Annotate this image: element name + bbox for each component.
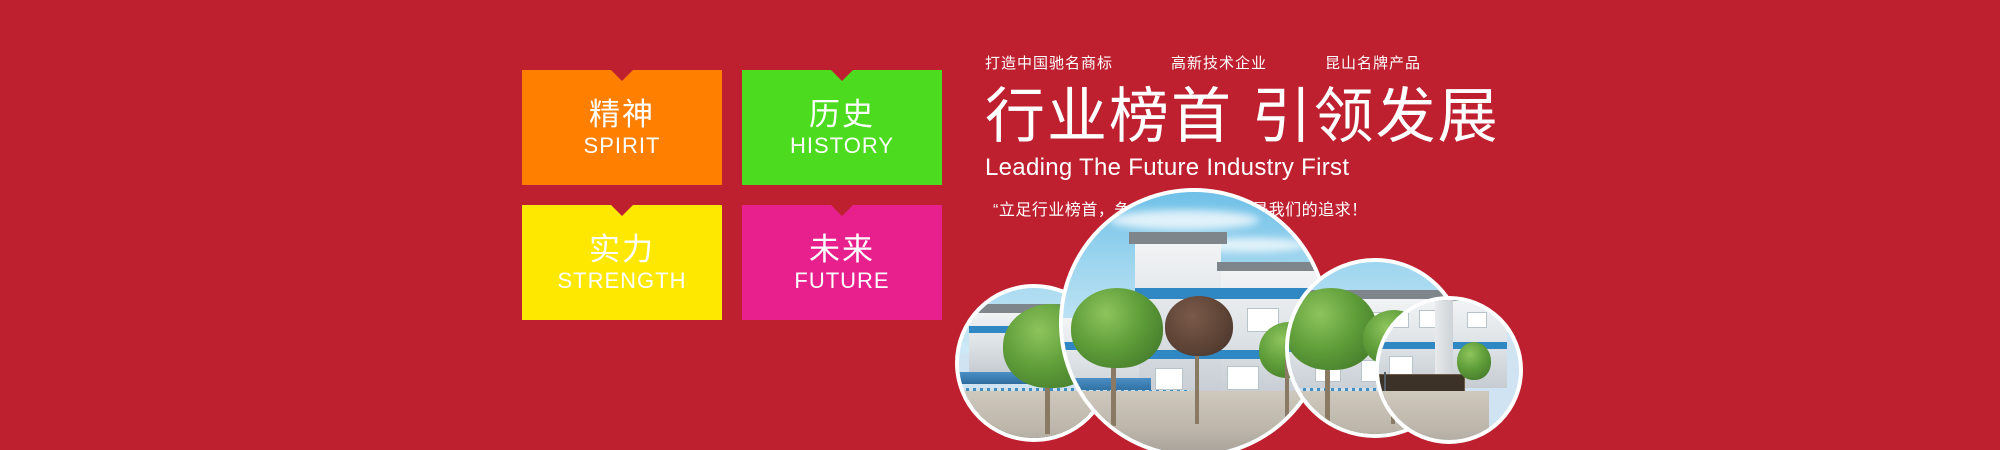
tile-future[interactable]: 未来 FUTURE bbox=[742, 205, 942, 320]
banner-subheadline: Leading The Future Industry First bbox=[985, 154, 1605, 182]
banner-headline: 行业榜首 引领发展 bbox=[985, 85, 1605, 148]
tile-future-cn: 未来 bbox=[809, 234, 875, 265]
tile-strength[interactable]: 实力 STRENGTH bbox=[522, 205, 722, 320]
tile-history-en: HISTORY bbox=[790, 135, 894, 157]
tile-spirit[interactable]: 精神 SPIRIT bbox=[522, 70, 722, 185]
credential-item-0: 打造中国驰名商标 bbox=[985, 52, 1113, 73]
credential-item-1: 高新技术企业 bbox=[1171, 52, 1267, 73]
promo-banner: 精神 SPIRIT 历史 HISTORY 实力 STRENGTH 未来 FUTU… bbox=[0, 0, 2000, 450]
tile-future-en: FUTURE bbox=[794, 270, 889, 292]
tile-spirit-en: SPIRIT bbox=[584, 135, 661, 157]
tile-history-cn: 历史 bbox=[809, 99, 875, 130]
value-tile-grid: 精神 SPIRIT 历史 HISTORY 实力 STRENGTH 未来 FUTU… bbox=[522, 70, 942, 320]
photo-bubble-right bbox=[1375, 296, 1523, 444]
notch-icon bbox=[831, 205, 853, 216]
tile-history[interactable]: 历史 HISTORY bbox=[742, 70, 942, 185]
tile-strength-en: STRENGTH bbox=[558, 270, 687, 292]
tile-spirit-cn: 精神 bbox=[589, 99, 655, 130]
factory-scene bbox=[1375, 296, 1489, 444]
tile-strength-cn: 实力 bbox=[589, 234, 655, 265]
notch-icon bbox=[831, 70, 853, 81]
notch-icon bbox=[611, 205, 633, 216]
factory-photo-cloud bbox=[955, 188, 1485, 450]
credential-list: 打造中国驰名商标 高新技术企业 昆山名牌产品 bbox=[985, 52, 1605, 73]
credential-item-2: 昆山名牌产品 bbox=[1325, 52, 1421, 73]
notch-icon bbox=[611, 70, 633, 81]
